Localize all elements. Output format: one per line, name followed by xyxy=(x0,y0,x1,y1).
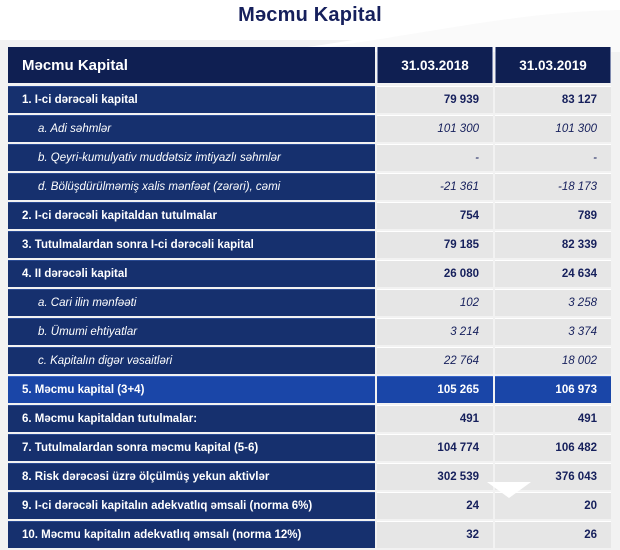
row-value-2019: 3 258 xyxy=(495,289,611,316)
table-row: 3. Tutulmalardan sonra I-ci dərəcəli kap… xyxy=(8,231,612,258)
row-value-2018: 104 774 xyxy=(377,434,493,461)
row-value-2018: 22 764 xyxy=(377,347,493,374)
table-row: 6. Məcmu kapitaldan tutulmalar: 491 491 xyxy=(8,405,612,432)
row-label: a. Adi səhmlər xyxy=(8,115,375,142)
row-value-2018: 26 080 xyxy=(377,260,493,287)
row-label: 5. Məcmu kapital (3+4) xyxy=(8,376,375,403)
row-value-2018: 24 xyxy=(377,492,493,519)
row-label: 8. Risk dərəcəsi üzrə ölçülmüş yekun akt… xyxy=(8,463,375,490)
row-value-2019: 18 002 xyxy=(495,347,611,374)
row-value-2019: 83 127 xyxy=(495,86,611,113)
row-label: 10. Məcmu kapitalın adekvatlıq əmsalı (n… xyxy=(8,521,375,548)
header-col-2019: 31.03.2019 xyxy=(495,47,611,83)
table-row: 1. I-ci dərəcəli kapital 79 939 83 127 xyxy=(8,86,612,113)
row-value-2018: 102 xyxy=(377,289,493,316)
row-value-2019: - xyxy=(495,144,611,171)
table-row: 4. II dərəcəli kapital 26 080 24 634 xyxy=(8,260,612,287)
table-row: b. Qeyri-kumulyativ muddətsiz imtiyazlı … xyxy=(8,144,612,171)
table-row-highlighted: 5. Məcmu kapital (3+4) 105 265 106 973 xyxy=(8,376,612,403)
row-label: d. Bölüşdürülməmiş xalis mənfəət (zərəri… xyxy=(8,173,375,200)
page-title: Məcmu Kapital xyxy=(0,4,620,27)
table-row: 10. Məcmu kapitalın adekvatlıq əmsalı (n… xyxy=(8,521,612,548)
capital-table: Məcmu Kapital 31.03.2018 31.03.2019 1. I… xyxy=(8,47,612,550)
table-row: a. Adi səhmlər 101 300 101 300 xyxy=(8,115,612,142)
row-value-2019: 789 xyxy=(495,202,611,229)
table-row: a. Cari ilin mənfəəti 102 3 258 xyxy=(8,289,612,316)
row-value-2019: 24 634 xyxy=(495,260,611,287)
row-value-2019: 3 374 xyxy=(495,318,611,345)
row-value-2019: 82 339 xyxy=(495,231,611,258)
row-label: c. Kapitalın digər vəsaitləri xyxy=(8,347,375,374)
row-value-2018: - xyxy=(377,144,493,171)
row-value-2019: 106 482 xyxy=(495,434,611,461)
row-label: 6. Məcmu kapitaldan tutulmalar: xyxy=(8,405,375,432)
row-label: 2. I-ci dərəcəli kapitaldan tutulmalar xyxy=(8,202,375,229)
row-label: b. Ümumi ehtiyatlar xyxy=(8,318,375,345)
table-row: c. Kapitalın digər vəsaitləri 22 764 18 … xyxy=(8,347,612,374)
row-value-2018: 3 214 xyxy=(377,318,493,345)
chevron-down-icon xyxy=(487,482,531,498)
row-value-2018: 32 xyxy=(377,521,493,548)
row-value-2018: 79 185 xyxy=(377,231,493,258)
row-value-2018: 754 xyxy=(377,202,493,229)
row-value-2018: 79 939 xyxy=(377,86,493,113)
header-col-2018: 31.03.2018 xyxy=(377,47,493,83)
row-value-2019: 101 300 xyxy=(495,115,611,142)
row-label: 4. II dərəcəli kapital xyxy=(8,260,375,287)
row-value-2019: 106 973 xyxy=(495,376,611,403)
row-label: a. Cari ilin mənfəəti xyxy=(8,289,375,316)
row-value-2018: 105 265 xyxy=(377,376,493,403)
row-value-2019: 491 xyxy=(495,405,611,432)
table-header-row: Məcmu Kapital 31.03.2018 31.03.2019 xyxy=(8,47,612,83)
row-value-2018: 491 xyxy=(377,405,493,432)
row-value-2019: -18 173 xyxy=(495,173,611,200)
row-label: 9. I-ci dərəcəli kapitalın adekvatlıq əm… xyxy=(8,492,375,519)
row-value-2018: 101 300 xyxy=(377,115,493,142)
row-value-2019: 26 xyxy=(495,521,611,548)
row-label: 1. I-ci dərəcəli kapital xyxy=(8,86,375,113)
row-label: 3. Tutulmalardan sonra I-ci dərəcəli kap… xyxy=(8,231,375,258)
table-row: 2. I-ci dərəcəli kapitaldan tutulmalar 7… xyxy=(8,202,612,229)
row-label: 7. Tutulmalardan sonra məcmu kapital (5-… xyxy=(8,434,375,461)
table-row: 7. Tutulmalardan sonra məcmu kapital (5-… xyxy=(8,434,612,461)
table-row: d. Bölüşdürülməmiş xalis mənfəət (zərəri… xyxy=(8,173,612,200)
header-label-cell: Məcmu Kapital xyxy=(8,47,375,83)
row-label: b. Qeyri-kumulyativ muddətsiz imtiyazlı … xyxy=(8,144,375,171)
row-value-2018: 302 539 xyxy=(377,463,493,490)
row-value-2018: -21 361 xyxy=(377,173,493,200)
table-row: b. Ümumi ehtiyatlar 3 214 3 374 xyxy=(8,318,612,345)
